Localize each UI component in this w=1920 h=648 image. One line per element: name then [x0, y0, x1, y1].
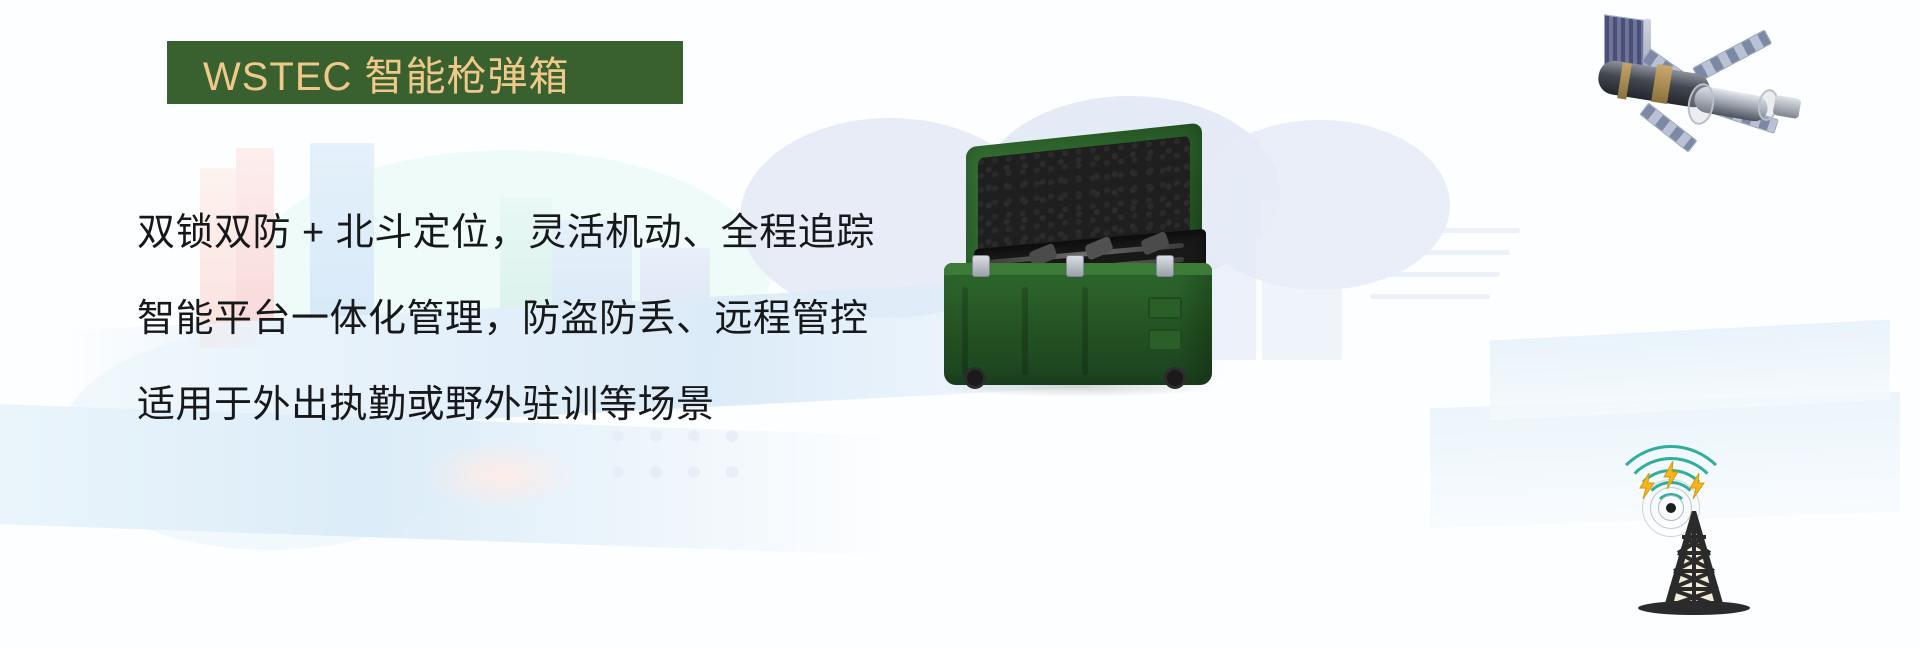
antenna-tower-icon	[1600, 435, 1790, 615]
bg-line	[1370, 294, 1490, 299]
case-shadow	[940, 377, 1220, 397]
bg-circle	[420, 440, 580, 510]
feature-line-3: 适用于外出执勤或野外驻训等场景	[137, 362, 957, 448]
bg-dot	[612, 466, 624, 478]
case-rib	[962, 287, 968, 375]
case-rib	[1022, 287, 1028, 375]
bg-line	[1310, 228, 1520, 233]
bg-line	[1350, 272, 1500, 277]
product-banner: WSTEC 智能枪弹箱 双锁双防 + 北斗定位，灵活机动、全程追踪 智能平台一体…	[0, 0, 1920, 648]
case-vent	[1148, 297, 1182, 319]
case-latch	[1066, 255, 1084, 277]
feature-line-2: 智能平台一体化管理，防盗防丢、远程管控	[137, 276, 957, 362]
bg-building	[1262, 200, 1342, 360]
bg-line	[1330, 250, 1510, 255]
bg-dot	[688, 466, 700, 478]
lightning-bolt-icon	[1688, 473, 1706, 499]
product-image-ammo-case	[930, 115, 1260, 405]
rifle-stock	[1084, 236, 1114, 261]
page-title: WSTEC 智能枪弹箱	[167, 44, 570, 102]
tower-structure	[1626, 511, 1766, 615]
satellite-icon	[1598, 5, 1808, 150]
lightning-bolt-icon	[1638, 473, 1656, 499]
case-body	[944, 263, 1212, 385]
satellite-nozzle	[1772, 95, 1801, 119]
bg-dot	[650, 466, 662, 478]
lightning-bolt-icon	[1662, 461, 1680, 489]
case-vent	[1148, 329, 1182, 351]
feature-line-1: 双锁双防 + 北斗定位，灵活机动、全程追踪	[137, 190, 957, 276]
rifle-stock	[1140, 231, 1170, 256]
case-latch	[1156, 255, 1174, 277]
bg-dot	[726, 466, 738, 478]
case-latch	[972, 255, 990, 277]
satellite-arm	[1692, 29, 1772, 82]
title-plate: WSTEC 智能枪弹箱	[167, 41, 683, 104]
case-rib	[1082, 287, 1088, 375]
feature-copy-list: 双锁双防 + 北斗定位，灵活机动、全程追踪 智能平台一体化管理，防盗防丢、远程管…	[137, 190, 957, 448]
